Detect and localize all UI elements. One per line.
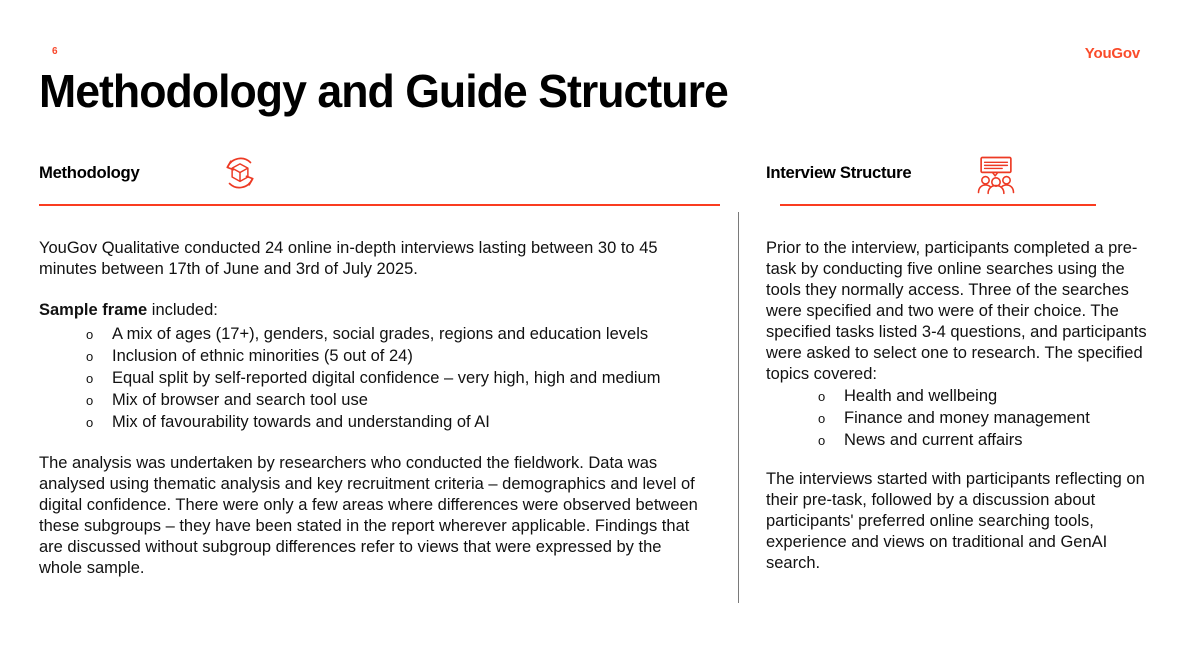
analysis-paragraph: The analysis was undertaken by researche… (39, 453, 707, 579)
closing-paragraph: The interviews started with participants… (766, 469, 1156, 574)
list-item: oFinance and money management (818, 408, 1156, 429)
list-item-label: Inclusion of ethnic minorities (5 out of… (112, 347, 413, 365)
list-item-label: Health and wellbeing (844, 387, 997, 405)
page-number: 6 (52, 46, 58, 57)
bullet-circle-icon: o (86, 390, 93, 411)
bullet-circle-icon: o (818, 408, 825, 429)
methodology-section-title: Methodology (39, 163, 139, 183)
bullet-circle-icon: o (818, 430, 825, 451)
bullet-circle-icon: o (86, 412, 93, 433)
list-item-label: News and current affairs (844, 431, 1023, 449)
list-item-label: A mix of ages (17+), genders, social gra… (112, 325, 648, 343)
list-item-label: Finance and money management (844, 409, 1090, 427)
interview-structure-divider-rule (780, 204, 1096, 206)
list-item: oEqual split by self-reported digital co… (86, 368, 707, 389)
cycle-box-icon (219, 152, 261, 199)
interview-structure-section-title: Interview Structure (766, 163, 911, 183)
intro-paragraph: YouGov Qualitative conducted 24 online i… (39, 238, 707, 280)
list-item: oHealth and wellbeing (818, 386, 1156, 407)
interview-structure-header: Interview Structure (766, 152, 1151, 204)
list-item: oInclusion of ethnic minorities (5 out o… (86, 346, 707, 367)
bullet-circle-icon: o (86, 346, 93, 367)
methodology-column: Methodology (39, 152, 720, 206)
bullet-circle-icon: o (86, 324, 93, 345)
list-item-label: Mix of browser and search tool use (112, 391, 368, 409)
interview-structure-column: Interview Structure (766, 152, 1151, 206)
column-divider (738, 212, 739, 603)
interview-structure-body: Prior to the interview, participants com… (766, 238, 1156, 574)
sample-frame-label-line: Sample frame included: (39, 300, 707, 321)
topics-list: oHealth and wellbeing oFinance and money… (766, 386, 1156, 451)
bullet-circle-icon: o (818, 386, 825, 407)
sample-frame-list: oA mix of ages (17+), genders, social gr… (39, 324, 707, 433)
list-item: oNews and current affairs (818, 430, 1156, 451)
yougov-logo: YouGov (1085, 45, 1140, 62)
bullet-circle-icon: o (86, 368, 93, 389)
sample-frame-label-rest: included: (147, 301, 218, 319)
pretask-paragraph: Prior to the interview, participants com… (766, 238, 1156, 385)
focus-group-speech-icon (974, 154, 1018, 201)
list-item: oMix of browser and search tool use (86, 390, 707, 411)
list-item-label: Mix of favourability towards and underst… (112, 413, 490, 431)
sample-frame-label: Sample frame (39, 301, 147, 319)
list-item: oMix of favourability towards and unders… (86, 412, 707, 433)
methodology-divider-rule (39, 204, 720, 206)
methodology-body: YouGov Qualitative conducted 24 online i… (39, 238, 707, 579)
page-title: Methodology and Guide Structure (39, 67, 728, 115)
slide: 6 YouGov Methodology and Guide Structure… (0, 0, 1190, 669)
methodology-header: Methodology (39, 152, 720, 204)
list-item-label: Equal split by self-reported digital con… (112, 369, 660, 387)
list-item: oA mix of ages (17+), genders, social gr… (86, 324, 707, 345)
